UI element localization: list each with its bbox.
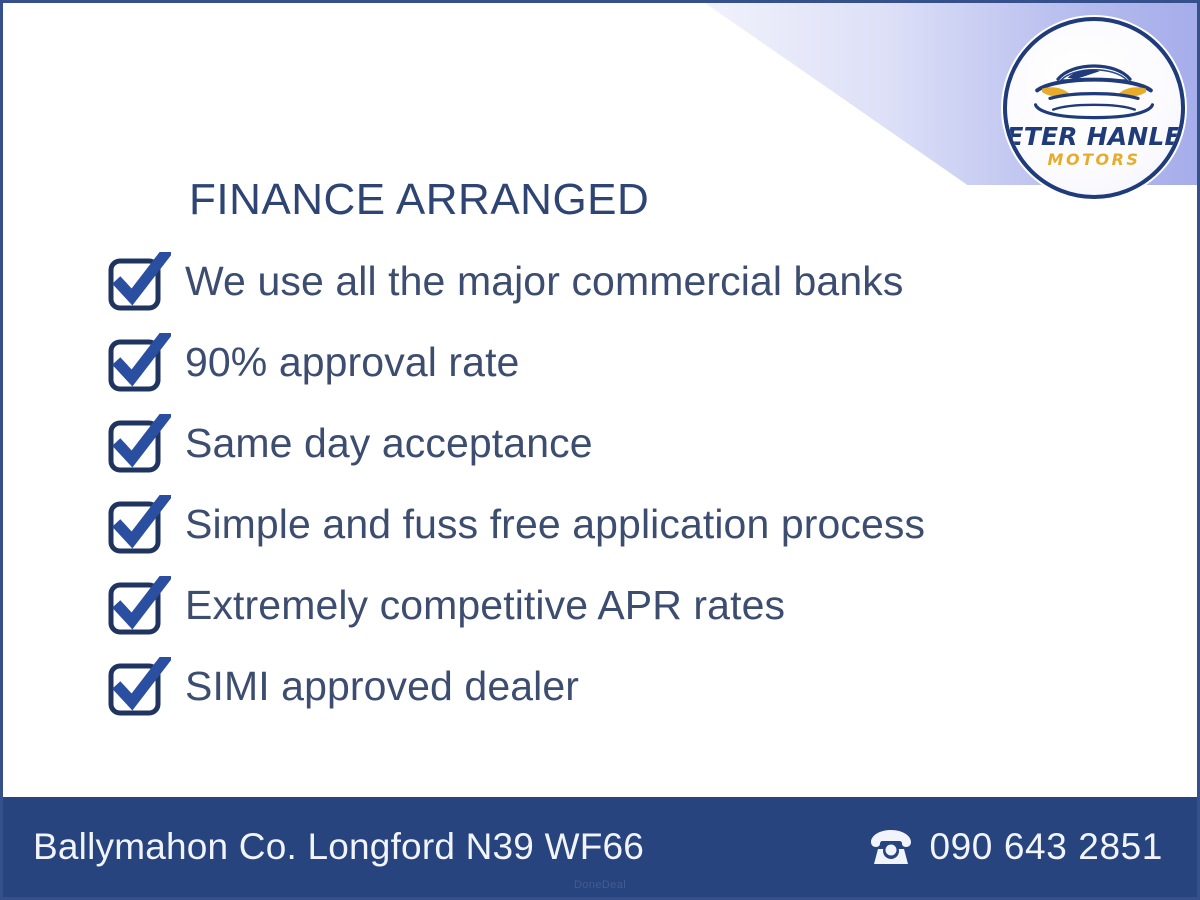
dealer-address: Ballymahon Co. Longford N39 WF66	[33, 826, 644, 868]
list-item-label: Simple and fuss free application process	[185, 504, 925, 545]
dealer-logo-badge: PETER HANLEY MOTORS	[1003, 17, 1185, 199]
checkbox-checked-icon	[107, 657, 171, 717]
list-item: We use all the major commercial banks	[107, 241, 1107, 322]
list-item-label: SIMI approved dealer	[185, 666, 579, 707]
list-item-label: 90% approval rate	[185, 342, 519, 383]
list-item-label: Extremely competitive APR rates	[185, 585, 785, 626]
logo-brand-sub: MOTORS	[1048, 152, 1141, 168]
checkbox-checked-icon	[107, 414, 171, 474]
checkbox-checked-icon	[107, 576, 171, 636]
list-item: Extremely competitive APR rates	[107, 565, 1107, 646]
footer-contact-bar: Ballymahon Co. Longford N39 WF66 090 643…	[3, 797, 1197, 897]
list-item: Simple and fuss free application process	[107, 484, 1107, 565]
list-item: SIMI approved dealer	[107, 646, 1107, 727]
site-watermark: DoneDeal	[3, 879, 1197, 891]
checkbox-checked-icon	[107, 333, 171, 393]
dealer-phone[interactable]: 090 643 2851	[869, 826, 1163, 868]
list-item-label: Same day acceptance	[185, 423, 593, 464]
list-item: Same day acceptance	[107, 403, 1107, 484]
logo-brand-name: PETER HANLEY	[1003, 124, 1185, 149]
list-item-label: We use all the major commercial banks	[185, 261, 903, 302]
feature-list: We use all the major commercial banks 90…	[107, 241, 1107, 727]
car-front-icon	[1026, 53, 1162, 123]
page-title: FINANCE ARRANGED	[189, 175, 649, 225]
list-item: 90% approval rate	[107, 322, 1107, 403]
dealer-phone-number: 090 643 2851	[929, 826, 1163, 868]
advert-card: PETER HANLEY MOTORS FINANCE ARRANGED We …	[0, 0, 1200, 900]
checkbox-checked-icon	[107, 252, 171, 312]
telephone-icon	[869, 827, 913, 867]
checkbox-checked-icon	[107, 495, 171, 555]
